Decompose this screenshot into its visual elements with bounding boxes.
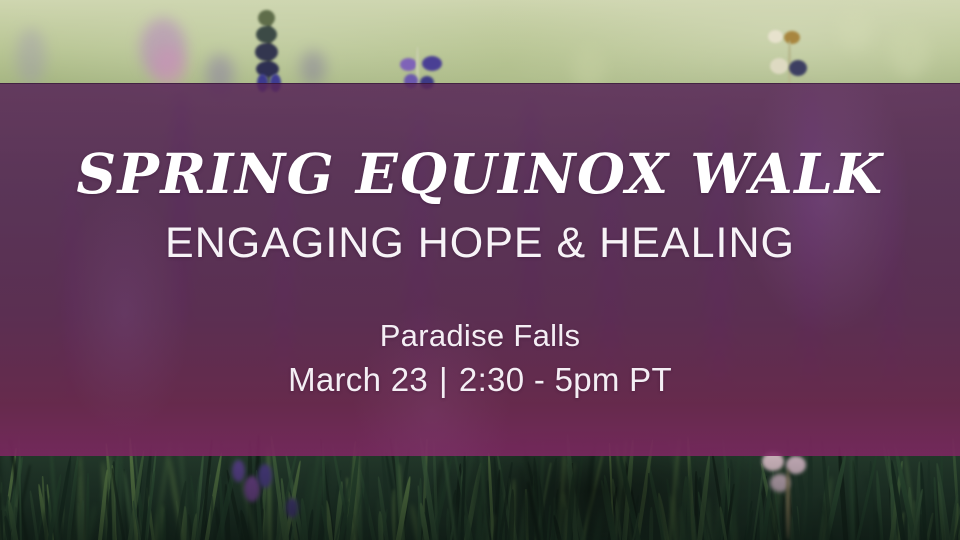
datetime-separator: | [428,361,459,398]
event-poster: SPRING EQUINOX WALK ENGAGING HOPE & HEAL… [0,0,960,540]
event-time: 2:30 - 5pm PT [459,361,672,398]
event-date: March 23 [288,361,428,398]
event-venue: Paradise Falls [0,320,960,351]
poster-content: SPRING EQUINOX WALK ENGAGING HOPE & HEAL… [0,0,960,540]
event-subtitle: ENGAGING HOPE & HEALING [0,222,960,265]
event-title: SPRING EQUINOX WALK [0,146,960,201]
event-datetime: March 23|2:30 - 5pm PT [0,363,960,396]
